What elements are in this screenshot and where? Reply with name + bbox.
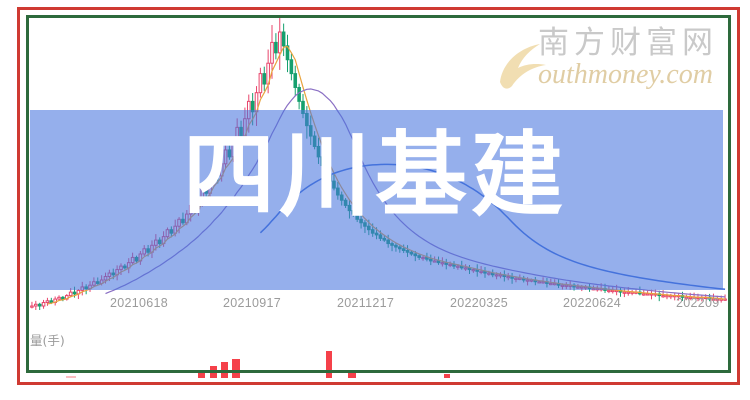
volume-bar xyxy=(66,376,76,378)
candle-body xyxy=(561,285,564,286)
candle-body xyxy=(642,294,645,295)
candle-body xyxy=(519,278,522,279)
candle-body xyxy=(275,42,278,52)
candle-body xyxy=(294,74,297,88)
candle-body xyxy=(422,257,425,258)
volume-bar xyxy=(221,362,228,378)
candle-body xyxy=(429,259,432,261)
candle-body xyxy=(278,32,281,53)
candle-body xyxy=(530,280,533,281)
volume-bar xyxy=(444,374,450,378)
candle-body xyxy=(449,264,452,265)
candle-body xyxy=(410,252,413,254)
volume-bar xyxy=(326,351,332,378)
candle-body xyxy=(124,266,127,268)
candle-body xyxy=(158,240,161,243)
candle-body xyxy=(271,42,274,63)
candle-body xyxy=(472,270,475,271)
candle-body xyxy=(131,257,134,262)
candle-body xyxy=(247,101,250,118)
volume-bar xyxy=(210,366,217,378)
candle-body xyxy=(592,289,595,290)
candle-body xyxy=(488,273,491,274)
x-axis-tick-0: 20210618 xyxy=(110,296,168,310)
candle-body xyxy=(387,240,390,243)
candle-body xyxy=(81,287,84,290)
x-axis-tick-2: 20211217 xyxy=(337,296,394,310)
swoosh-icon xyxy=(496,38,556,96)
candle-body xyxy=(143,249,146,254)
candle-body xyxy=(418,256,421,258)
volume-bars xyxy=(30,342,727,378)
candle-body xyxy=(499,275,502,276)
candle-body xyxy=(608,290,611,291)
candle-body xyxy=(399,247,402,249)
candle-body xyxy=(85,287,88,289)
x-axis-labels: 2021061820210917202112172022032520220624… xyxy=(30,296,730,318)
candle-body xyxy=(553,283,556,284)
watermark-logo: 南方财富网 outhmoney.com xyxy=(512,28,718,89)
candle-body xyxy=(108,273,111,276)
candle-body xyxy=(383,238,386,240)
candle-body xyxy=(577,287,580,288)
candle-body xyxy=(298,87,301,101)
candle-body xyxy=(542,282,545,283)
candle-body xyxy=(507,277,510,278)
candle-body xyxy=(646,294,649,295)
candle-body xyxy=(596,289,599,290)
candle-body xyxy=(259,74,262,93)
candle-body xyxy=(627,292,630,293)
watermark-chinese: 南方财富网 xyxy=(538,28,718,59)
x-axis-tick-3: 20220325 xyxy=(450,296,508,310)
candle-body xyxy=(96,282,99,284)
candle-body xyxy=(495,275,498,276)
candle-body xyxy=(73,292,76,294)
volume-bar xyxy=(198,373,205,378)
candle-body xyxy=(406,251,409,253)
candle-body xyxy=(290,60,293,74)
candle-body xyxy=(135,257,138,260)
candle-body xyxy=(414,254,417,256)
candle-body xyxy=(464,268,467,269)
candle-body xyxy=(93,282,96,285)
candle-body xyxy=(526,280,529,281)
candle-body xyxy=(565,285,568,286)
candle-body xyxy=(480,271,483,272)
candle-body xyxy=(580,287,583,288)
candle-body xyxy=(433,261,436,262)
candle-body xyxy=(263,74,266,84)
candle-body xyxy=(395,245,398,247)
candle-body xyxy=(282,32,285,46)
candle-body xyxy=(437,261,440,263)
candle-body xyxy=(302,101,305,113)
candle-body xyxy=(515,278,518,279)
candle-body xyxy=(402,249,405,251)
screenshot-root: 四川基建 南方财富网 outhmoney.com 202106182021091… xyxy=(0,0,750,400)
overlay-title: 四川基建 xyxy=(0,128,750,224)
candle-body xyxy=(170,230,173,233)
x-axis-tick-1: 20210917 xyxy=(223,296,281,310)
x-axis-tick-4: 20220624 xyxy=(563,296,621,310)
watermark-english: outhmoney.com xyxy=(538,61,718,89)
candle-body xyxy=(112,273,115,275)
candle-body xyxy=(104,277,107,280)
volume-panel: 量(手) xyxy=(30,330,727,378)
candle-body xyxy=(391,244,394,246)
candle-body xyxy=(375,233,378,235)
candle-body xyxy=(166,230,169,237)
candle-body xyxy=(155,240,158,245)
candle-body xyxy=(457,266,460,267)
candle-body xyxy=(120,266,123,269)
volume-bar xyxy=(348,372,356,378)
volume-bar xyxy=(232,359,240,378)
x-axis-tick-5: 202209 xyxy=(676,296,720,310)
candle-body xyxy=(538,282,541,283)
candle-body xyxy=(251,101,254,111)
candle-body xyxy=(623,292,626,293)
candle-body xyxy=(379,235,382,238)
candle-body xyxy=(371,230,374,233)
candle-body xyxy=(441,263,444,264)
candle-body xyxy=(611,290,614,291)
candle-body xyxy=(550,283,553,284)
candle-body xyxy=(147,249,150,252)
